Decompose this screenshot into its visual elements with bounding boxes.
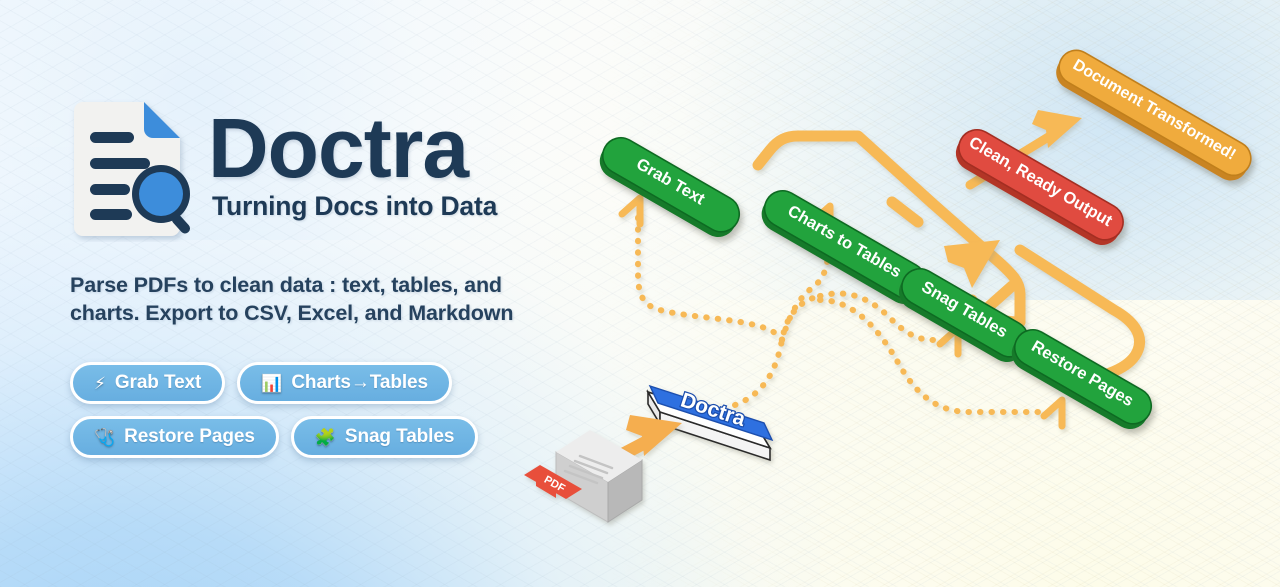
feature-pill-label: Grab Text xyxy=(115,372,201,394)
bar-chart-icon: 📊 xyxy=(261,375,282,392)
feature-pill-charts-tables[interactable]: 📊 Charts→Tables xyxy=(237,362,452,404)
document-magnifier-icon xyxy=(68,99,192,242)
brand-subtitle: Turning Docs into Data xyxy=(208,189,548,222)
bus-path-charts-riser xyxy=(892,202,918,222)
flow-node-transformed[interactable]: Document Transformed! xyxy=(1050,44,1257,187)
flow-node-grab-text[interactable]: Grab Text xyxy=(593,131,746,243)
feature-pill-row-2: 🩺 Restore Pages 🧩 Snag Tables xyxy=(70,416,540,458)
feature-pill-grab-text[interactable]: ⚡ Grab Text xyxy=(70,362,225,404)
feature-pill-restore-pages[interactable]: 🩺 Restore Pages xyxy=(70,416,279,458)
flow-node-label: Document Transformed! xyxy=(1070,57,1239,164)
arrowhead-clean-output xyxy=(944,240,1000,288)
isometric-flow-diagram: Grab Text Charts to Tables Snag Tables xyxy=(520,0,1280,587)
lightning-bolt-icon: ⚡ xyxy=(94,375,106,392)
brand-text-block: Doctra Turning Docs into Data xyxy=(208,99,548,222)
puzzle-piece-icon: 🧩 xyxy=(315,429,336,446)
feature-pill-row-1: ⚡ Grab Text 📊 Charts→Tables xyxy=(70,362,540,404)
feature-pill-snag-tables[interactable]: 🧩 Snag Tables xyxy=(291,416,479,458)
brand-lockup: Doctra Turning Docs into Data xyxy=(68,99,538,251)
hero-left-panel: Doctra Turning Docs into Data Parse PDFs… xyxy=(0,0,600,587)
arrowhead-restore-pages xyxy=(1044,400,1062,426)
page-title: Doctra xyxy=(208,99,548,189)
feature-pill-group: ⚡ Grab Text 📊 Charts→Tables 🩺 Restore Pa… xyxy=(70,362,540,470)
stethoscope-icon: 🩺 xyxy=(94,429,115,446)
feature-pill-label: Charts→Tables xyxy=(291,372,428,394)
feature-pill-label: Restore Pages xyxy=(124,426,255,448)
dotted-path-trunk xyxy=(735,296,820,405)
tagline-text: Parse PDFs to clean data : text, tables,… xyxy=(70,272,570,328)
doctra-banner: Doctra Turning Docs into Data Parse PDFs… xyxy=(0,0,1280,587)
source-pdf-document[interactable]: PDF xyxy=(524,430,642,522)
feature-pill-label: Snag Tables xyxy=(345,426,454,448)
arrowhead-grab-text xyxy=(622,198,640,224)
